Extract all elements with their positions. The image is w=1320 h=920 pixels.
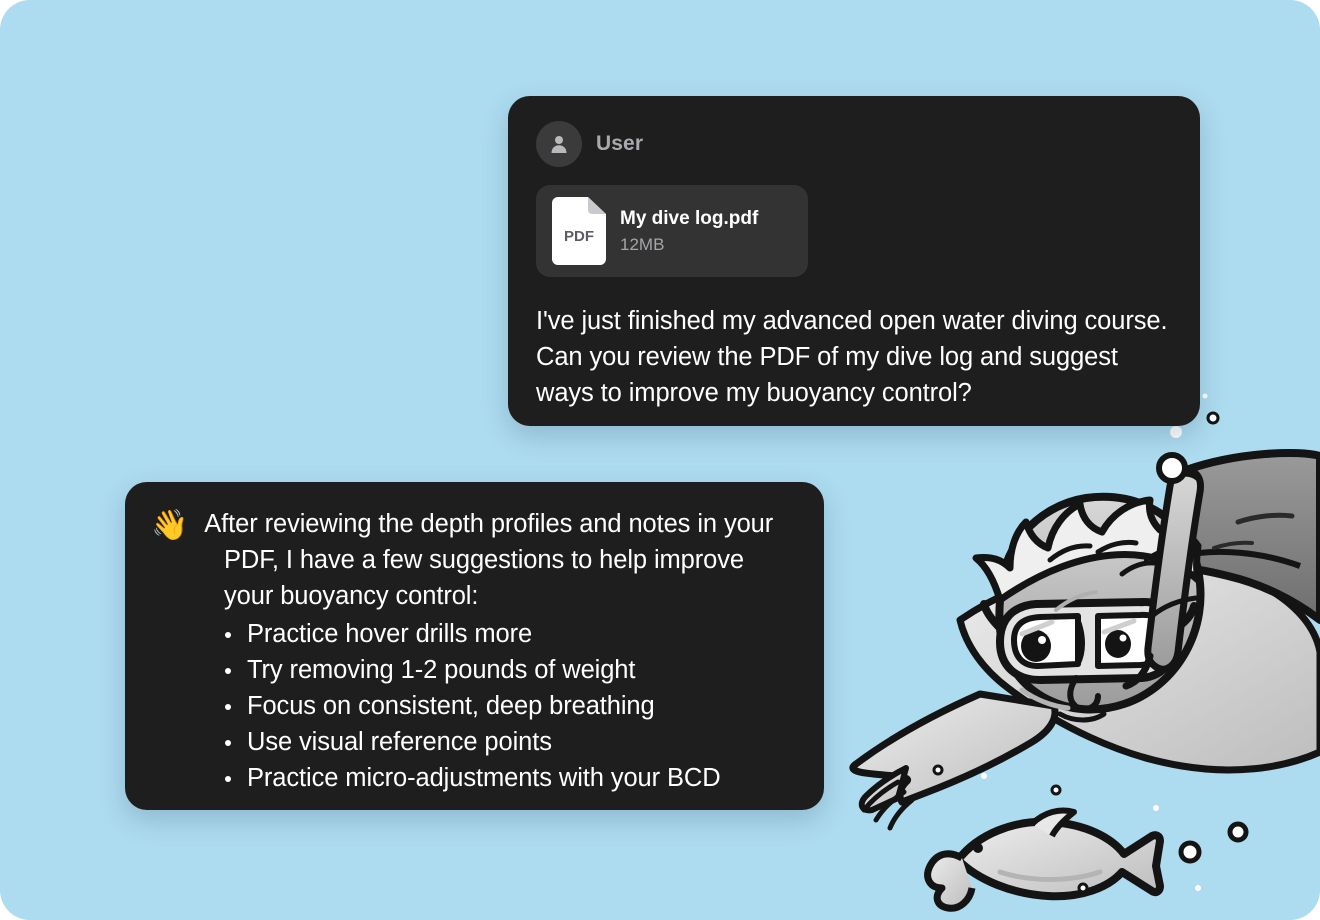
attachment-meta: My dive log.pdf 12MB <box>620 208 758 255</box>
list-item: Practice hover drills more <box>247 616 798 652</box>
user-message-header: User <box>536 120 1172 168</box>
assistant-intro-label: After reviewing the depth profiles and n… <box>204 510 773 610</box>
attachment-filesize: 12MB <box>620 235 758 255</box>
waving-hand-icon: 👋 <box>151 509 188 542</box>
pdf-file-icon: PDF <box>552 197 606 265</box>
list-item: Practice micro-adjustments with your BCD <box>247 760 798 796</box>
pdf-attachment-card[interactable]: PDF My dive log.pdf 12MB <box>536 185 808 277</box>
list-item: Focus on consistent, deep breathing <box>247 688 798 724</box>
list-item: Try removing 1-2 pounds of weight <box>247 652 798 688</box>
user-message-bubble: User PDF My dive log.pdf 12MB I've just … <box>508 96 1200 426</box>
list-item: Use visual reference points <box>247 724 798 760</box>
suggestion-list: Practice hover drills more Try removing … <box>151 616 798 796</box>
page-root: User PDF My dive log.pdf 12MB I've just … <box>0 0 1320 920</box>
svg-text:PDF: PDF <box>564 228 594 245</box>
chat-conversation: User PDF My dive log.pdf 12MB I've just … <box>0 0 1320 920</box>
assistant-intro-text: 👋After reviewing the depth profiles and … <box>151 506 798 614</box>
attachment-filename: My dive log.pdf <box>620 208 758 230</box>
user-name-label: User <box>596 132 643 156</box>
person-avatar-icon <box>536 121 582 167</box>
user-message-text: I've just finished my advanced open wate… <box>536 303 1172 411</box>
assistant-message-bubble: 👋After reviewing the depth profiles and … <box>125 482 824 810</box>
